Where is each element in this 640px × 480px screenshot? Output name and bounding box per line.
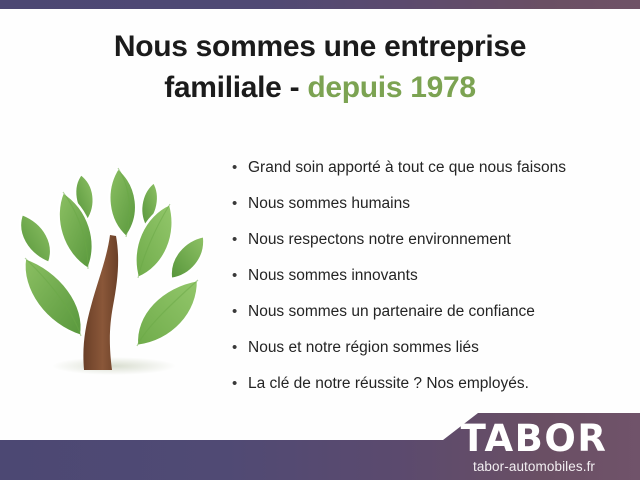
title-line-2: familiale - depuis 1978 [28, 67, 612, 108]
list-item-label: La clé de notre réussite ? Nos employés. [248, 375, 529, 392]
bullet-dot-icon: • [232, 258, 237, 294]
bullet-dot-icon: • [232, 366, 237, 402]
bullet-dot-icon: • [232, 222, 237, 258]
list-item: • Nous respectons notre environnement [228, 222, 628, 258]
list-item: • Nous et notre région sommes liés [228, 330, 628, 366]
tree-shadow [52, 357, 176, 375]
logo-website-url: tabor-automobiles.fr [436, 459, 632, 474]
title-line-1: Nous sommes une entreprise [28, 26, 612, 67]
tree-illustration [8, 140, 218, 390]
list-item: • La clé de notre réussite ? Nos employé… [228, 366, 628, 402]
top-accent-strip [0, 0, 640, 9]
bullet-dot-icon: • [232, 150, 237, 186]
leaf-lower-left [24, 258, 81, 336]
value-proposition-list: • Grand soin apporté à tout ce que nous … [228, 150, 628, 402]
list-item-label: Grand soin apporté à tout ce que nous fa… [248, 159, 566, 176]
title-line-2-accent: depuis 1978 [307, 71, 475, 104]
leaf-far-left [20, 214, 51, 263]
list-item-label: Nous et notre région sommes liés [248, 339, 479, 356]
footer-band: TABOR tabor-automobiles.fr [0, 400, 640, 480]
list-item: • Nous sommes un partenaire de confiance [228, 294, 628, 330]
list-item-label: Nous sommes humains [248, 195, 410, 212]
leaf-lower-right [137, 280, 198, 346]
slide-root: Nous sommes une entreprise familiale - d… [0, 0, 640, 480]
logo-wordmark: TABOR [436, 420, 632, 458]
page-title: Nous sommes une entreprise familiale - d… [0, 26, 640, 108]
brand-logo[interactable]: TABOR tabor-automobiles.fr [436, 420, 632, 474]
leaf-top-center [109, 168, 136, 237]
list-item-label: Nous respectons notre environnement [248, 231, 511, 248]
list-item-label: Nous sommes un partenaire de confiance [248, 303, 535, 320]
list-item: • Nous sommes humains [228, 186, 628, 222]
title-line-2-plain: familiale - [164, 71, 307, 104]
bullet-dot-icon: • [232, 330, 237, 366]
bullet-dot-icon: • [232, 294, 237, 330]
list-item-label: Nous sommes innovants [248, 267, 418, 284]
list-item: • Nous sommes innovants [228, 258, 628, 294]
list-item: • Grand soin apporté à tout ce que nous … [228, 150, 628, 186]
leaf-far-right [171, 236, 205, 279]
bullet-dot-icon: • [232, 186, 237, 222]
